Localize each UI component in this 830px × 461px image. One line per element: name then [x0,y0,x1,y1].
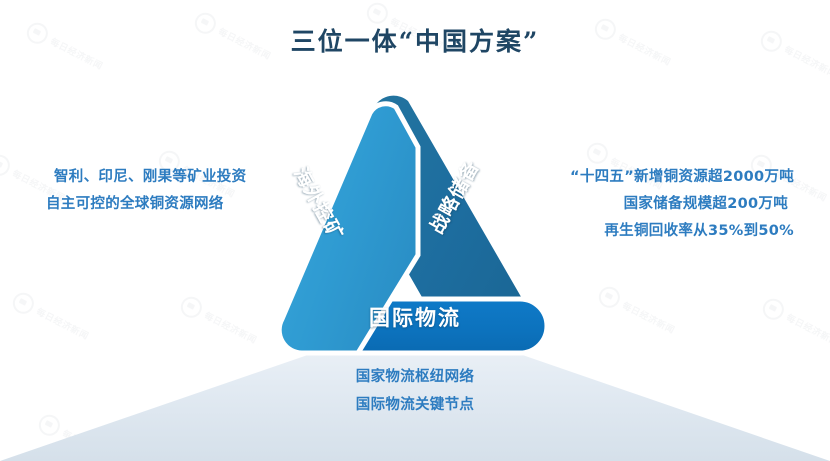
note-line: 国际物流关键节点 [0,391,830,419]
note-line: 智利、印尼、刚果等矿业投资 [46,164,246,191]
note-line: 国家物流枢纽网络 [0,363,830,391]
note-line: 自主可控的全球铜资源网络 [46,191,246,218]
slide-canvas: 每日经济新闻 每日经济新闻 每日经济新闻 每日经济新闻 每日经济新闻 每日经济新… [0,0,830,461]
note-line: 国家储备规模超200万吨 [570,191,794,218]
note-line: “十四五”新增铜资源超2000万吨 [570,164,794,191]
logistics-notes: 国家物流枢纽网络 国际物流关键节点 [0,363,830,419]
triad-diagram [258,95,568,355]
note-line: 再生铜回收率从35%到50% [570,218,794,245]
strategic-reserve-notes: “十四五”新增铜资源超2000万吨 国家储备规模超200万吨 再生铜回收率从35… [570,164,794,245]
watermark-logo-icon [0,151,13,179]
page-title: 三位一体“中国方案” [0,22,830,58]
overseas-mining-notes: 智利、印尼、刚果等矿业投资 自主可控的全球铜资源网络 [46,164,246,218]
